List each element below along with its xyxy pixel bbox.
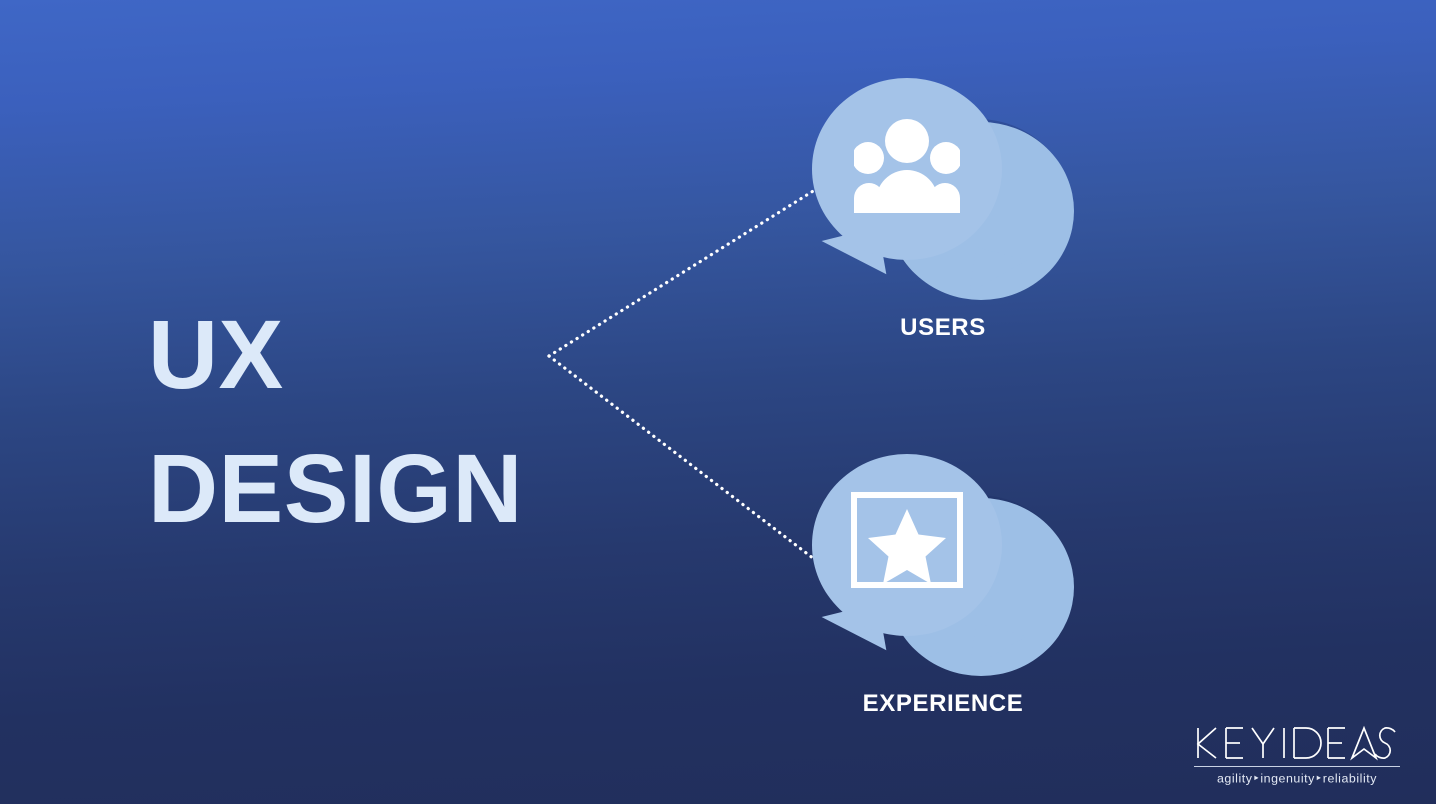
speech-bubble-back-tail-icon (970, 623, 1028, 676)
connector-line-lower (549, 356, 818, 562)
page-title: UX DESIGN (148, 288, 578, 556)
speech-bubble-back-tail-icon (970, 247, 1028, 300)
people-group-icon (854, 118, 960, 218)
node-experience: EXPERIENCE (808, 448, 1078, 678)
star-in-frame-icon (851, 492, 963, 588)
title-line-2: DESIGN (148, 422, 578, 556)
logo-tagline-text: agility‣ingenuity‣reliability (1217, 772, 1377, 786)
connector-line-upper (549, 188, 818, 356)
keyideas-logo: agility‣ingenuity‣reliability (1194, 723, 1400, 786)
ux-design-slide: UX DESIGN USERS (0, 0, 1436, 804)
node-caption-experience: EXPERIENCE (808, 690, 1078, 718)
logo-divider (1194, 766, 1400, 767)
logo-tagline-icon: agility‣ingenuity‣reliability (1194, 770, 1400, 786)
logo-wordmark-icon (1194, 723, 1400, 763)
speech-bubble-pair-users (808, 72, 1078, 302)
node-users: USERS (808, 72, 1078, 302)
title-line-1: UX (148, 288, 578, 422)
node-caption-users: USERS (808, 314, 1078, 342)
speech-bubble-pair-experience (808, 448, 1078, 678)
